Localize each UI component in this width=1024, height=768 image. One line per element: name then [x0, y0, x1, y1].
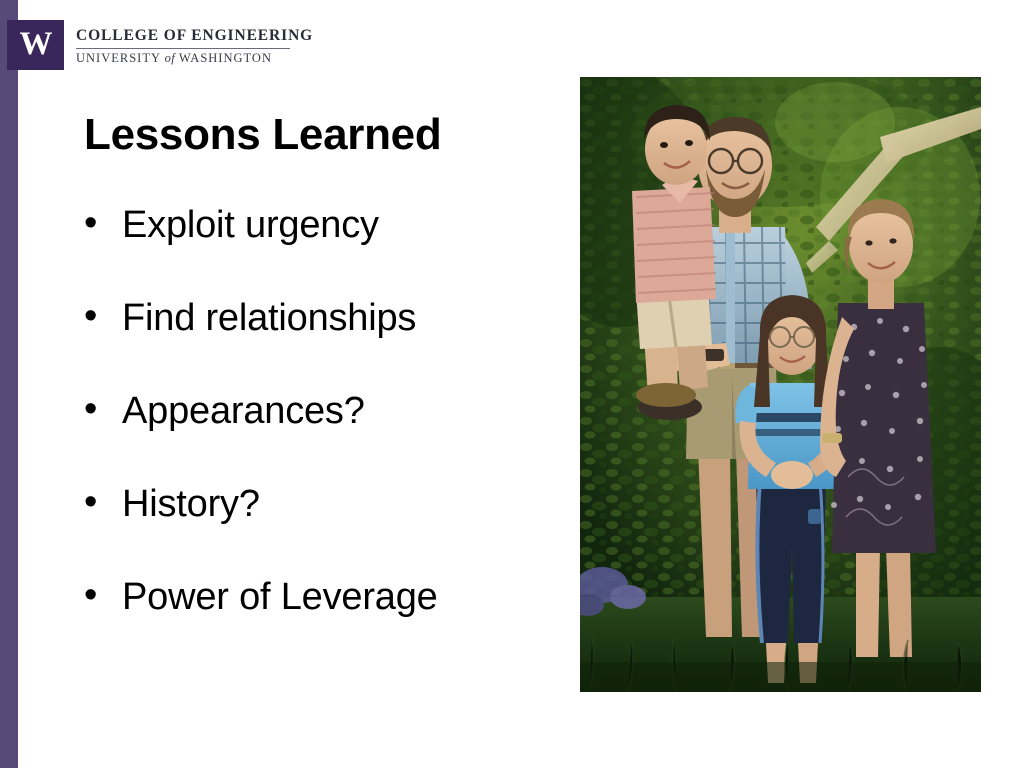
logo-college-line: COLLEGE OF ENGINEERING — [76, 28, 313, 44]
uw-w-letter: W — [20, 28, 52, 61]
family-photo-artwork — [580, 77, 981, 692]
bullet-text-5: Power of Leverage — [122, 578, 438, 616]
left-accent-band — [0, 0, 18, 768]
left-accent-band-edge — [18, 0, 21, 768]
bullet-item-4: • History? — [84, 485, 554, 578]
logo-university-pre: UNIVERSITY — [76, 51, 165, 65]
family-photo — [580, 77, 981, 692]
logo-university-post: WASHINGTON — [175, 51, 272, 65]
bullet-marker-icon: • — [84, 204, 122, 242]
bullet-marker-icon: • — [84, 297, 122, 335]
bullet-list: • Exploit urgency • Find relationships •… — [84, 206, 554, 671]
bullet-item-1: • Exploit urgency — [84, 206, 554, 299]
bullet-text-3: Appearances? — [122, 392, 365, 430]
bullet-marker-icon: • — [84, 390, 122, 428]
bullet-text-4: History? — [122, 485, 260, 523]
bullet-item-2: • Find relationships — [84, 299, 554, 392]
logo-university-of: of — [165, 51, 175, 65]
uw-college-of-engineering-logo: W COLLEGE OF ENGINEERING UNIVERSITY of W… — [0, 20, 313, 72]
bullet-text-2: Find relationships — [122, 299, 416, 337]
logo-wordmark: COLLEGE OF ENGINEERING UNIVERSITY of WAS… — [76, 20, 313, 72]
bullet-marker-icon: • — [84, 483, 122, 521]
slide-title: Lessons Learned — [84, 112, 441, 158]
bullet-marker-icon: • — [84, 576, 122, 614]
bullet-item-5: • Power of Leverage — [84, 578, 554, 671]
bullet-text-1: Exploit urgency — [122, 206, 379, 244]
logo-divider-rule — [76, 48, 290, 49]
uw-w-mark-icon: W — [7, 20, 64, 70]
bullet-item-3: • Appearances? — [84, 392, 554, 485]
logo-university-line: UNIVERSITY of WASHINGTON — [76, 52, 313, 65]
